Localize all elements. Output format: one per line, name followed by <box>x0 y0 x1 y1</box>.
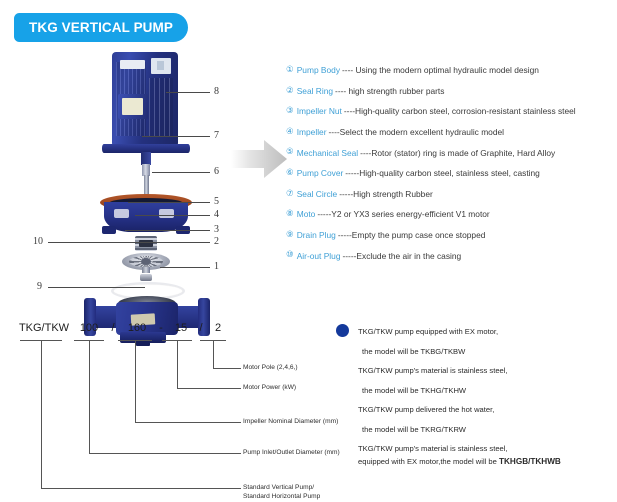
item-number: ① <box>286 66 294 75</box>
item-number: ④ <box>286 128 294 137</box>
right-arrow-icon <box>231 138 287 180</box>
item-name: Mechanical Seal <box>297 148 358 158</box>
callout-number-1: 1 <box>214 262 219 272</box>
item-number: ⑧ <box>286 210 294 219</box>
item-desc: ---- high strength rubber parts <box>335 86 444 96</box>
item-name: Impeller Nut <box>297 106 342 116</box>
page-title: TKG VERTICAL PUMP <box>29 20 173 35</box>
pump-cover-window-left <box>114 209 129 218</box>
callout-number-10: 10 <box>33 237 43 247</box>
item-name: Drain Plug <box>297 230 336 240</box>
code-run-pole <box>213 368 241 369</box>
item-name: Moto <box>297 209 316 219</box>
pump-cover-window-right <box>159 209 174 218</box>
list-item: ① Pump Body ---- Using the modern optima… <box>286 60 611 81</box>
motor-nameplate-upper <box>120 60 145 69</box>
callout-number-7: 7 <box>214 131 219 141</box>
code-run-inlet <box>89 453 241 454</box>
list-item: ⑩ Air-out Plug -----Exclude the air in t… <box>286 245 611 266</box>
code-segment-series: TKG/TKW <box>16 322 72 334</box>
item-name: Seal Circle <box>297 189 338 199</box>
item-number: ⑨ <box>286 231 294 240</box>
item-desc: -----High strength Rubber <box>339 189 433 199</box>
item-name: Impeller <box>297 127 327 137</box>
model-code-breakdown: TKG/TKW 100 / 160 - 15 / 2 Motor Pole (2… <box>0 310 330 500</box>
item-name: Pump Body <box>297 65 340 75</box>
code-label-inlet: Pump Inlet/Outlet Diameter (mm) <box>243 448 340 458</box>
item-desc: -----Empty the pump case once stopped <box>338 230 486 240</box>
callout-number-9: 9 <box>37 282 42 292</box>
page-title-banner: TKG VERTICAL PUMP <box>14 13 188 42</box>
item-name: Air-out Plug <box>297 251 341 261</box>
code-drop-power <box>177 340 178 388</box>
code-label-impeller: Impeller Nominal Diameter (mm) <box>243 417 338 427</box>
note-line: the model will be TKBG/TKBW <box>362 342 611 362</box>
item-desc: ----High-quality carbon steel, corrosion… <box>344 106 576 116</box>
callout-number-8: 8 <box>214 87 219 97</box>
item-desc: -----Exclude the air in the casing <box>342 251 461 261</box>
note-line: the model will be TKHG/TKHW <box>362 381 611 401</box>
note-line-last: equipped with EX motor,the model will be… <box>358 456 611 469</box>
item-desc: ---- Using the modern optimal hydraulic … <box>342 65 539 75</box>
list-item: ⑥ Pump Cover -----High-quality carbon st… <box>286 163 611 184</box>
model-code-row: TKG/TKW 100 / 160 - 15 / 2 <box>16 322 228 334</box>
code-run-series <box>41 488 241 489</box>
item-desc: ----Select the modern excellent hydrauli… <box>329 127 505 137</box>
impeller-shaft-neck <box>142 267 150 273</box>
code-drop-impeller <box>135 340 136 422</box>
callout-number-2: 2 <box>214 237 219 247</box>
list-item: ④ Impeller ----Select the modern excelle… <box>286 122 611 143</box>
motor-terminal-cover <box>122 98 143 115</box>
motor-rib-pattern <box>149 78 173 136</box>
impeller-hub <box>141 258 151 265</box>
list-item: ⑧ Moto -----Y2 or YX3 series energy-effi… <box>286 204 611 225</box>
code-drop-series <box>41 340 42 488</box>
model-variant-notes: TKG/TKW pump equipped with EX motor, the… <box>336 322 611 468</box>
code-label-series-line2: Standard Horizontal Pump <box>243 492 320 502</box>
note-last-model: TKHGB/TKHWB <box>499 457 561 466</box>
code-segment-pole: 2 <box>208 322 228 334</box>
code-separator-2: - <box>154 322 168 334</box>
callout-line-6 <box>152 172 210 173</box>
callout-line-7 <box>142 136 210 137</box>
code-label-power: Motor Power (kW) <box>243 383 296 393</box>
motor-nameplate-side <box>151 58 171 74</box>
list-item: ③ Impeller Nut ----High-quality carbon s… <box>286 101 611 122</box>
note-line: the model will be TKRG/TKRW <box>362 420 611 440</box>
note-line: TKG/TKW pump's material is stainless ste… <box>358 361 611 381</box>
code-segment-power: 15 <box>168 322 194 334</box>
item-number: ⑦ <box>286 190 294 199</box>
list-item: ② Seal Ring ---- high strength rubber pa… <box>286 81 611 102</box>
item-number: ② <box>286 87 294 96</box>
callout-line-3 <box>125 230 210 231</box>
list-item: ⑨ Drain Plug -----Empty the pump case on… <box>286 225 611 246</box>
note-last-prefix: equipped with EX motor,the model will be <box>358 457 499 466</box>
code-separator-3: / <box>194 322 208 334</box>
item-desc: -----Y2 or YX3 series energy-efficient V… <box>317 209 489 219</box>
callout-number-6: 6 <box>214 167 219 177</box>
code-run-power <box>177 388 241 389</box>
item-name: Pump Cover <box>297 168 344 178</box>
pump-shaft-part <box>144 175 149 195</box>
code-separator-1: / <box>106 322 120 334</box>
item-number: ⑩ <box>286 251 294 260</box>
callout-line-8 <box>166 92 210 93</box>
item-desc: ----Rotor (stator) ring is made of Graph… <box>360 148 555 158</box>
list-item: ⑤ Mechanical Seal ----Rotor (stator) rin… <box>286 142 611 163</box>
note-line: TKG/TKW pump's material is stainless ste… <box>358 443 611 456</box>
item-number: ⑥ <box>286 169 294 178</box>
pump-cover-foot-left <box>102 226 116 234</box>
callout-number-3: 3 <box>214 225 219 235</box>
note-line: TKG/TKW pump equipped with EX motor, <box>358 322 611 342</box>
callout-line-9 <box>48 287 145 288</box>
code-run-impeller <box>135 422 241 423</box>
code-segment-inlet: 100 <box>72 322 106 334</box>
code-drop-inlet <box>89 340 90 453</box>
code-segment-impeller: 160 <box>120 322 154 334</box>
callout-line-1 <box>160 267 210 268</box>
callout-number-4: 4 <box>214 210 219 220</box>
callout-line-5 <box>128 202 210 203</box>
item-name: Seal Ring <box>297 86 333 96</box>
impeller-nut-part <box>140 274 152 281</box>
list-item: ⑦ Seal Circle -----High strength Rubber <box>286 184 611 205</box>
parts-legend-list: ① Pump Body ---- Using the modern optima… <box>286 60 611 266</box>
bullet-dot-icon <box>336 324 349 337</box>
note-line: TKG/TKW pump delivered the hot water, <box>358 400 611 420</box>
callout-number-5: 5 <box>214 197 219 207</box>
callout-line-4 <box>135 215 210 216</box>
item-number: ⑤ <box>286 148 294 157</box>
callout-line-10 <box>48 242 148 243</box>
item-desc: -----High-quality carbon steel, stainles… <box>345 168 540 178</box>
code-drop-pole <box>213 340 214 368</box>
item-number: ③ <box>286 107 294 116</box>
code-label-pole: Motor Pole (2,4,6,) <box>243 363 298 373</box>
